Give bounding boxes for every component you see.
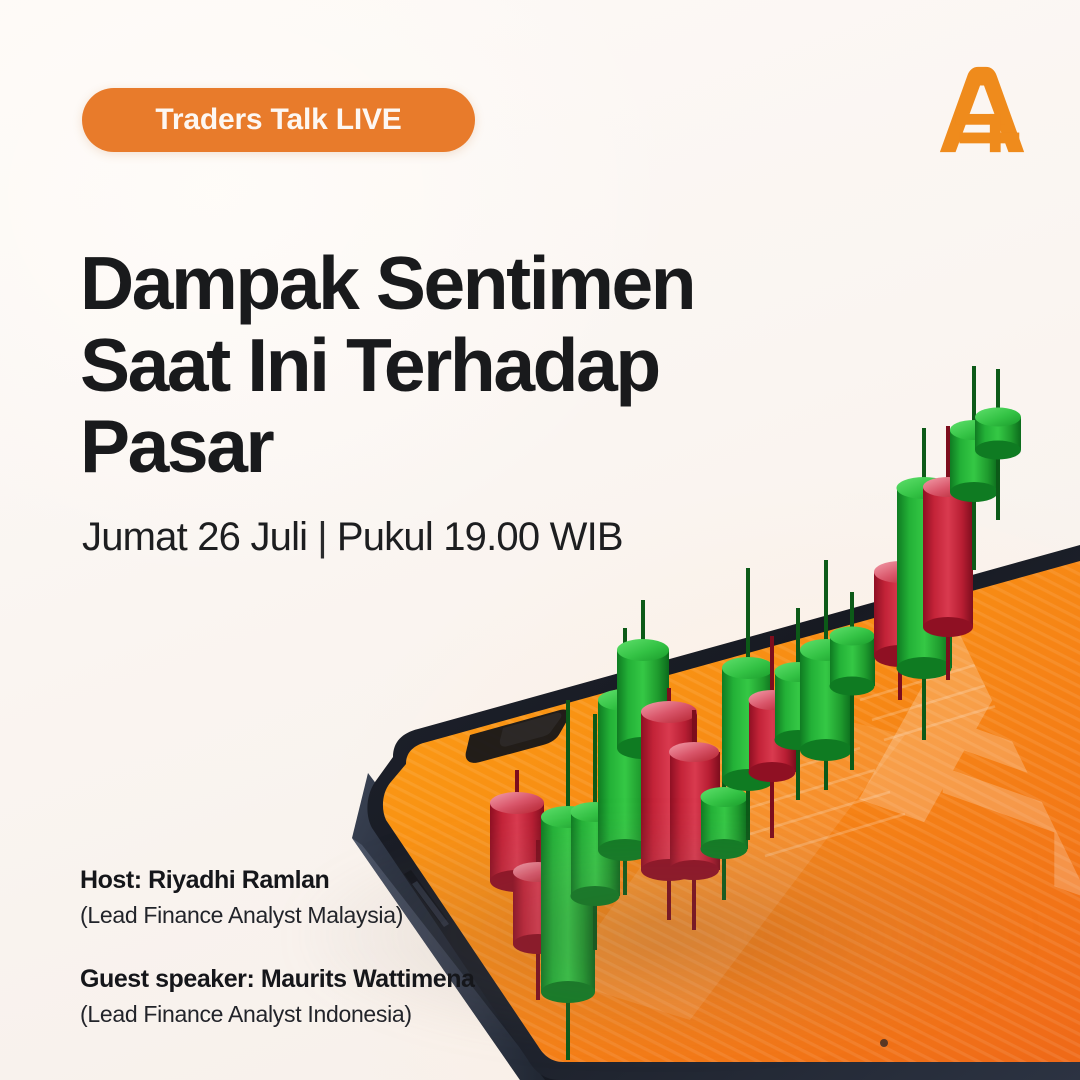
headline-line-3: Pasar xyxy=(80,406,820,487)
headline-line-1: Dampak Sentimen xyxy=(80,243,820,324)
speaker-host-role: (Lead Finance Analyst Malaysia) xyxy=(80,902,475,929)
live-badge[interactable]: Traders Talk LIVE xyxy=(82,88,475,152)
speaker-host: Host: Riyadhi Ramlan (Lead Finance Analy… xyxy=(80,866,475,929)
speakers-block: Host: Riyadhi Ramlan (Lead Finance Analy… xyxy=(80,866,475,1028)
speaker-guest-name: Guest speaker: Maurits Wattimena xyxy=(80,965,475,994)
speaker-guest-role: (Lead Finance Analyst Indonesia) xyxy=(80,1001,475,1028)
poster-canvas: Traders Talk LIVE Dampak Sentimen Saat I… xyxy=(0,0,1080,1080)
schedule-separator: | xyxy=(317,515,327,560)
speaker-guest: Guest speaker: Maurits Wattimena (Lead F… xyxy=(80,965,475,1028)
speaker-host-name: Host: Riyadhi Ramlan xyxy=(80,866,475,895)
live-badge-label: Traders Talk LIVE xyxy=(155,103,401,137)
brand-logo-a-icon xyxy=(934,62,1032,160)
schedule-line: Jumat 26 Juli|Pukul 19.00 WIB xyxy=(82,515,623,560)
schedule-date: Jumat 26 Juli xyxy=(82,515,307,559)
headline-line-2: Saat Ini Terhadap xyxy=(80,325,820,406)
page-title: Dampak Sentimen Saat Ini Terhadap Pasar xyxy=(80,243,820,487)
schedule-time: Pukul 19.00 WIB xyxy=(337,515,623,559)
